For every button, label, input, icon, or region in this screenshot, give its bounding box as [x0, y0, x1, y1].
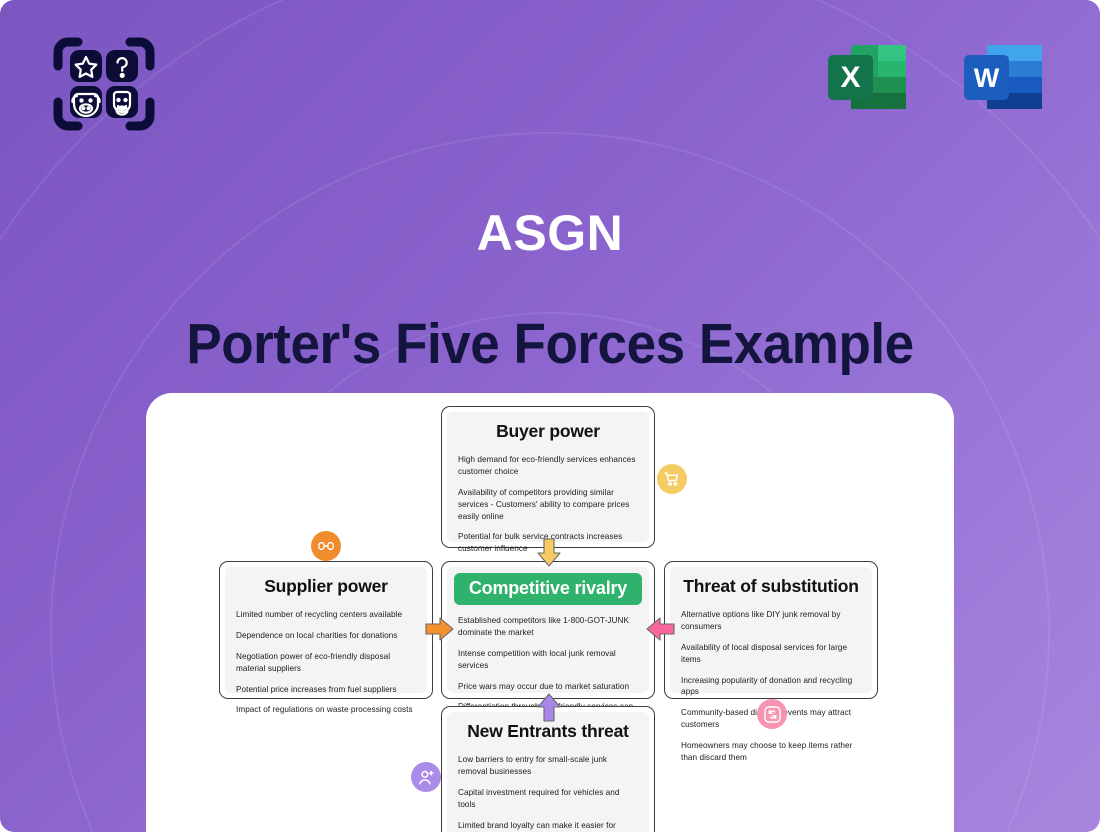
excel-icon[interactable]: X [818, 28, 916, 131]
word-icon[interactable]: W [954, 28, 1052, 131]
list-item: Availability of competitors providing si… [458, 487, 638, 523]
force-box-buyer[interactable]: Buyer power High demand for eco-friendly… [441, 406, 655, 548]
list-item: Increasing popularity of donation and re… [681, 675, 861, 699]
list-item: Alternative options like DIY junk remova… [681, 609, 861, 633]
force-title-supplier: Supplier power [236, 576, 416, 597]
svg-text:W: W [974, 63, 1000, 93]
list-item: Established competitors like 1-800-GOT-J… [458, 615, 638, 639]
user-plus-icon [411, 762, 441, 792]
list-item: Negotiation power of eco-friendly dispos… [236, 651, 416, 675]
arrow-supplier-right [425, 616, 455, 647]
list-item: Low barriers to entry for small-scale ju… [458, 754, 638, 778]
list-item: Limited brand loyalty can make it easier… [458, 820, 638, 832]
list-item: Dependence on local charities for donati… [236, 630, 416, 642]
list-item: High demand for eco-friendly services en… [458, 454, 638, 478]
list-item: Capital investment required for vehicles… [458, 787, 638, 811]
force-box-substitution[interactable]: Threat of substitution Alternative optio… [664, 561, 878, 699]
shopping-cart-icon [657, 464, 687, 494]
poster-canvas: X W ASGN Porter's Five Forces Example Bu… [0, 0, 1100, 832]
recycle-refresh-icon [757, 699, 787, 729]
brand-eyebrow: ASGN [0, 208, 1100, 258]
force-title-rivalry: Competitive rivalry [454, 573, 642, 605]
force-box-rivalry[interactable]: Competitive rivalry Established competit… [441, 561, 655, 699]
svg-text:X: X [840, 61, 860, 94]
list-item: Impact of regulations on waste processin… [236, 704, 416, 716]
office-app-icons: X W [818, 28, 1052, 131]
list-item: Intense competition with local junk remo… [458, 648, 638, 672]
force-points-supplier: Limited number of recycling centers avai… [236, 609, 416, 716]
list-item: Availability of local disposal services … [681, 642, 861, 666]
force-title-substitution: Threat of substitution [681, 576, 861, 597]
force-points-substitution: Alternative options like DIY junk remova… [681, 609, 861, 764]
list-item: Homeowners may choose to keep items rath… [681, 740, 861, 764]
list-item: Potential price increases from fuel supp… [236, 684, 416, 696]
asgn-logo[interactable] [48, 28, 160, 140]
force-points-entrants: Low barriers to entry for small-scale ju… [458, 754, 638, 832]
list-item: Limited number of recycling centers avai… [236, 609, 416, 621]
arrow-substitution-left [645, 616, 675, 647]
force-title-buyer: Buyer power [458, 421, 638, 442]
arrow-buyer-down [536, 538, 562, 573]
force-box-supplier[interactable]: Supplier power Limited number of recycli… [219, 561, 433, 699]
question-dot [121, 74, 124, 77]
link-chain-icon [311, 531, 341, 561]
list-item: Price wars may occur due to market satur… [458, 681, 638, 693]
arrow-entrants-up [536, 692, 562, 727]
page-title: Porter's Five Forces Example [39, 313, 1062, 376]
